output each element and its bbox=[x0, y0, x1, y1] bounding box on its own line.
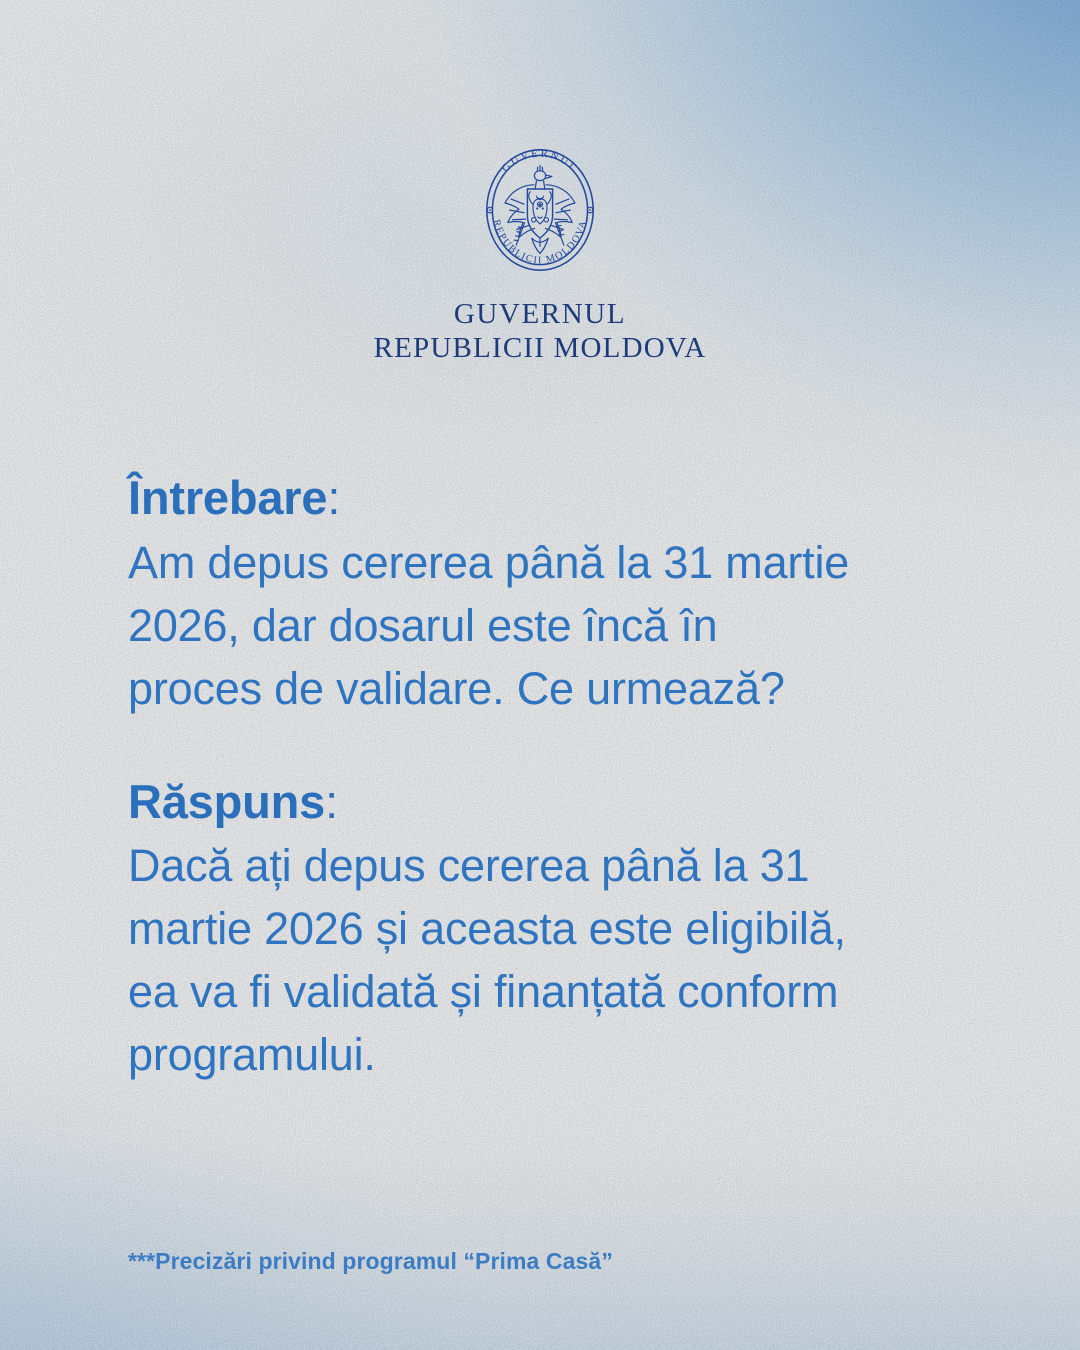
answer-line: programului. bbox=[128, 1023, 1028, 1086]
page-content: GUVERNUL REPUBLICII MOLDOVA bbox=[0, 0, 1080, 1350]
wordmark-line-2: REPUBLICII MOLDOVA bbox=[374, 332, 707, 366]
answer-heading: Răspuns: bbox=[128, 776, 1028, 829]
wordmark: GUVERNUL REPUBLICII MOLDOVA bbox=[374, 298, 707, 365]
answer-heading-punctuation: : bbox=[325, 775, 338, 828]
question-block: Întrebare: Am depus cererea până la 31 m… bbox=[128, 472, 1028, 720]
answer-line: ea va fi validată și finanțată conform bbox=[128, 960, 1028, 1023]
footnote: ***Precizări privind programul “Prima Ca… bbox=[128, 1248, 613, 1275]
answer-block: Răspuns: Dacă ați depus cererea până la … bbox=[128, 776, 1028, 1087]
question-heading-label: Întrebare bbox=[128, 471, 327, 524]
brand-header: GUVERNUL REPUBLICII MOLDOVA bbox=[0, 140, 1080, 365]
question-line: Am depus cererea până la 31 martie bbox=[128, 531, 1028, 594]
question-heading: Întrebare: bbox=[128, 472, 1028, 525]
moldova-government-seal-icon: GUVERNUL REPUBLICII MOLDOVA bbox=[470, 140, 610, 280]
wordmark-line-1: GUVERNUL bbox=[374, 298, 707, 332]
question-line: proces de validare. Ce urmează? bbox=[128, 657, 1028, 720]
question-line: 2026, dar dosarul este încă în bbox=[128, 594, 1028, 657]
answer-line: martie 2026 și aceasta este eligibilă, bbox=[128, 897, 1028, 960]
answer-line: Dacă ați depus cererea până la 31 bbox=[128, 834, 1028, 897]
answer-text: Dacă ați depus cererea până la 31 martie… bbox=[128, 834, 1028, 1086]
question-text: Am depus cererea până la 31 martie 2026,… bbox=[128, 531, 1028, 720]
answer-heading-label: Răspuns bbox=[128, 775, 325, 828]
question-heading-punctuation: : bbox=[327, 471, 340, 524]
qa-content: Întrebare: Am depus cererea până la 31 m… bbox=[128, 472, 1028, 1086]
